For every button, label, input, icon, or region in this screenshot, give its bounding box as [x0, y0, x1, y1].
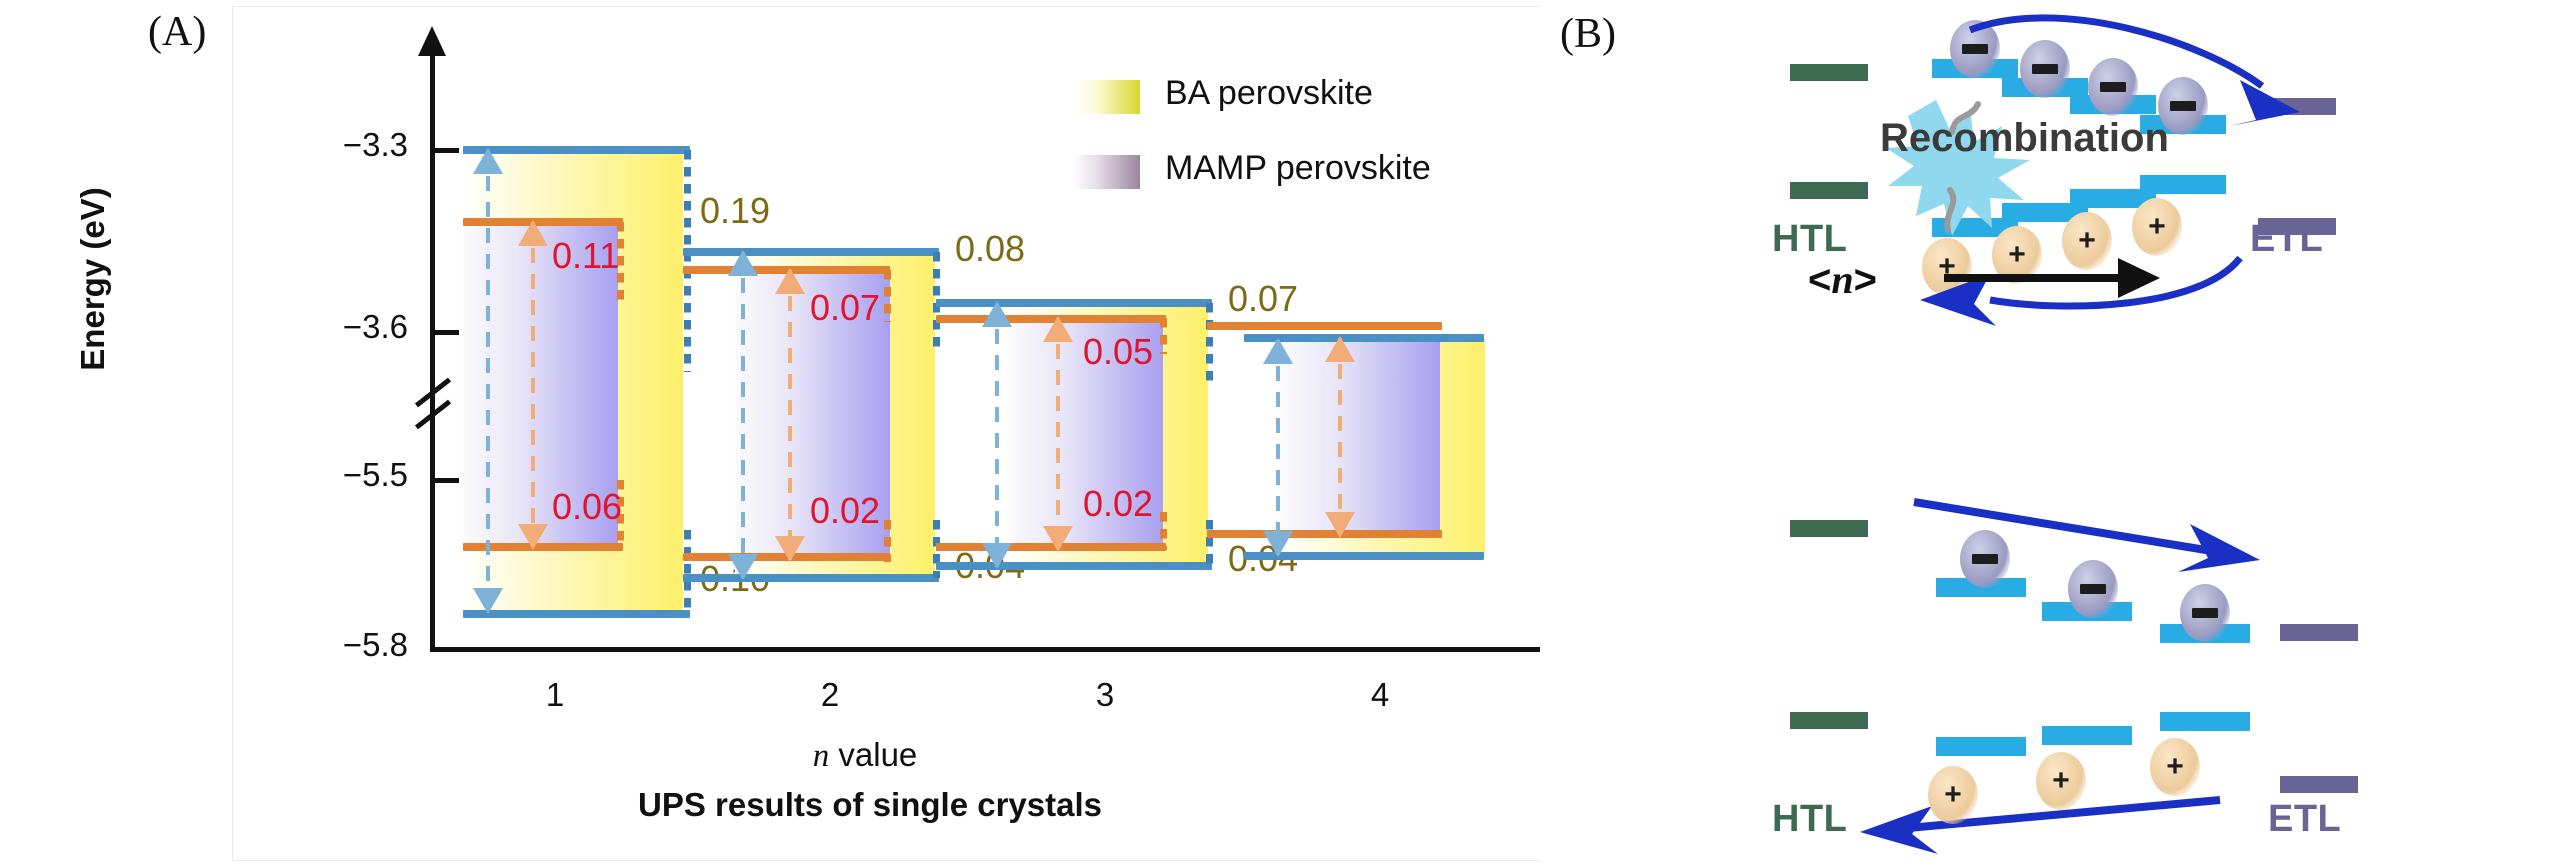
electron-bottom-3 [2180, 584, 2230, 642]
mamp-vbm-connector-n3 [1160, 512, 1167, 550]
x-axis-title-text: value [829, 736, 917, 773]
mamp-block-n4 [1280, 338, 1440, 538]
etl-level-bottom-electron [2280, 624, 2358, 641]
mamp-gap-arrow-n3 [1043, 318, 1073, 550]
y-tick-label-3: −5.5 [228, 456, 408, 494]
y-axis-arrowhead [418, 26, 446, 56]
ba-cbm-connector-n3 [1206, 303, 1213, 387]
mamp-cbm-connector-n3 [1160, 318, 1167, 354]
y-tick-label-1: −3.3 [228, 126, 408, 164]
x-tick-label-3: 3 [1065, 676, 1145, 714]
y-tick-1 [435, 148, 459, 153]
htl-label-bottom: HTL [1772, 798, 1847, 841]
panel-a-caption: UPS results of single crystals [610, 786, 1130, 824]
panel-a-letter: (A) [148, 8, 206, 56]
electron-transfer-arrow-bottom [1914, 502, 2218, 552]
ba-gap-arrow-n4 [1263, 340, 1293, 555]
panel-a: (A) −3.3 −3.6 −5.5 −5.8 Energy (eV) 1 2 … [0, 0, 1540, 866]
x-tick-label-2: 2 [790, 676, 870, 714]
ba-gap-arrow-n3 [982, 303, 1012, 567]
vbm-offset-red-n3: 0.02 [1083, 483, 1153, 525]
ba-vbm-level-n3 [936, 562, 1212, 570]
y-tick-2 [435, 330, 459, 335]
electron-bottom-1 [1960, 530, 2010, 588]
ba-cbm-level-n2 [683, 248, 939, 256]
electron-bottom-2 [2068, 560, 2118, 618]
mamp-cbm-connector-n2 [884, 270, 891, 322]
cbm-step-gold-2: 0.08 [955, 228, 1025, 270]
electron-transfer-arrowhead-top [2230, 80, 2300, 126]
n-trend-label-open: < [1808, 258, 1831, 302]
legend-swatch-ba [1072, 80, 1140, 114]
ba-gap-arrow-n2 [728, 252, 758, 578]
hole-transfer-arrow-top [1990, 258, 2240, 306]
x-axis-title: n value [700, 736, 1030, 775]
x-tick-label-1: 1 [515, 676, 595, 714]
ba-vbm-connector-n1 [684, 530, 691, 614]
y-tick-label-2: −3.6 [228, 308, 408, 346]
y-axis-line [430, 52, 435, 652]
electron-transfer-arrow-top [1970, 18, 2262, 86]
n-trend-label: <n> [1808, 256, 1877, 303]
ba-vbm-connector-n3 [1206, 520, 1213, 566]
mamp-vbm-connector-n2 [884, 520, 891, 562]
hole-bottom-1: + [1928, 766, 1978, 824]
mamp-gap-arrow-n4 [1325, 338, 1355, 536]
legend-label-ba: BA perovskite [1165, 74, 1373, 113]
mamp-gap-arrow-n1 [518, 222, 548, 548]
n-trend-arrowhead [2118, 258, 2160, 298]
cbm-offset-red-n2: 0.07 [810, 287, 880, 329]
htl-level-bottom-electron [1790, 520, 1868, 537]
mamp-gap-arrow-n2 [775, 270, 805, 560]
cbm-step-gold-3: 0.07 [1228, 278, 1298, 320]
perovskite-vb-level-bottom-1 [1936, 737, 2026, 756]
y-tick-label-4: −5.8 [228, 626, 408, 664]
htl-level-bottom-hole [1790, 712, 1868, 729]
hole-bottom-3: + [2150, 738, 2200, 796]
n-trend-label-symbol: n [1831, 257, 1853, 302]
x-axis-line [430, 647, 1560, 652]
hole-bottom-2: + [2036, 752, 2086, 810]
y-axis-title: Energy (eV) [74, 114, 112, 444]
perovskite-vb-level-bottom-3 [2160, 712, 2250, 731]
ba-vbm-level-n2 [683, 574, 939, 582]
vbm-offset-red-n1: 0.06 [552, 486, 622, 528]
panel-b: (B) + + + + HTL ETL [1540, 0, 2567, 866]
legend-swatch-mamp [1072, 155, 1140, 189]
legend-label-mamp: MAMP perovskite [1165, 149, 1431, 188]
y-tick-3 [435, 478, 459, 483]
mamp-cbm-level-n4 [1207, 322, 1442, 330]
x-tick-label-4: 4 [1340, 676, 1420, 714]
recombination-label: Recombination [1880, 116, 2169, 161]
ba-gap-arrow-n1 [473, 150, 503, 612]
ba-cbm-level-n3 [936, 299, 1212, 307]
cbm-step-gold-1: 0.19 [700, 190, 770, 232]
etl-label-bottom: ETL [2268, 798, 2341, 841]
cbm-offset-red-n3: 0.05 [1083, 331, 1153, 373]
cbm-offset-red-n1: 0.11 [552, 235, 619, 277]
x-axis-title-symbol: n [813, 738, 830, 774]
n-trend-label-close: > [1854, 258, 1877, 302]
etl-level-bottom-hole [2280, 776, 2358, 793]
perovskite-vb-level-bottom-2 [2042, 726, 2132, 745]
ba-cbm-connector-n1 [684, 150, 691, 372]
vbm-offset-red-n2: 0.02 [810, 490, 880, 532]
